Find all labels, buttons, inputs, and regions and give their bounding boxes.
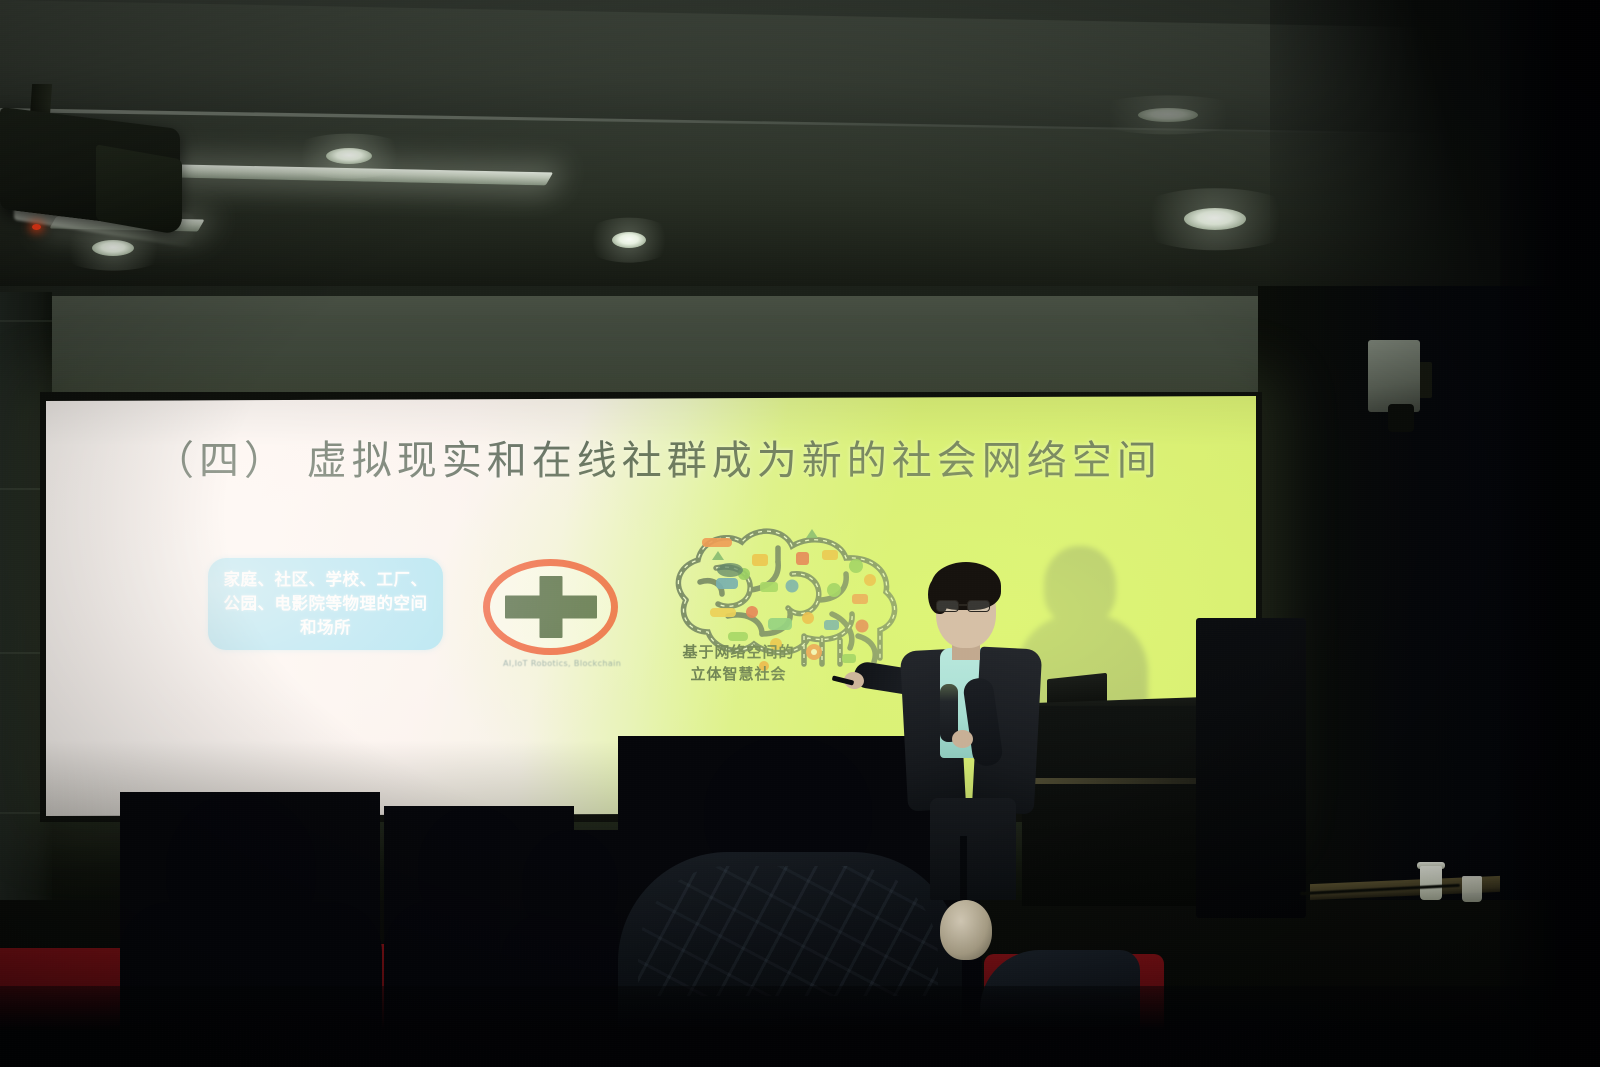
brain-caption-text: 基于网络空间的立体智慧社会: [676, 642, 801, 686]
plus-icon-vertical: [539, 576, 562, 638]
downlight-icon: [326, 148, 372, 164]
paper-cup: [1462, 876, 1482, 902]
av-rack: [1196, 618, 1306, 918]
physical-space-box: 家庭、社区、学校、工厂、公园、电影院等物理的空间和场所: [208, 558, 443, 650]
projector-body-lower: [96, 144, 182, 235]
wall-upper-strip: [40, 296, 1265, 396]
physical-space-box-text: 家庭、社区、学校、工厂、公园、电影院等物理的空间和场所: [218, 568, 433, 640]
downlight-icon: [1184, 208, 1246, 230]
downlight-icon: [1138, 108, 1198, 122]
paper-cup: [1420, 866, 1442, 900]
plus-caption-text: AI,IoT Robotics, Blockchain: [503, 659, 653, 669]
speaker-bracket: [1418, 362, 1432, 398]
downlight-icon: [92, 240, 134, 256]
auditorium-scene: （四） 虚拟现实和在线社群成为新的社会网络空间 家庭、社区、学校、工厂、公园、电…: [0, 0, 1600, 1067]
right-edge-shadow: [1500, 0, 1600, 1067]
presenter-legs: [930, 798, 1016, 900]
audience-hand: [940, 900, 992, 960]
slide-title: （四） 虚拟现实和在线社群成为新的社会网络空间: [154, 428, 1184, 486]
presenter-leg-gap: [960, 836, 967, 900]
presenter: [890, 548, 1065, 898]
glasses-icon: [935, 600, 997, 612]
plus-badge: AI,IoT Robotics, Blockchain: [483, 559, 618, 655]
foreground-shadow: [0, 986, 1600, 1067]
speaker-mount: [1388, 404, 1414, 432]
presenter-right-hand: [952, 730, 973, 748]
wall-speaker-icon: [1368, 340, 1420, 412]
projector-power-led: [32, 224, 41, 230]
downlight-icon: [612, 232, 646, 248]
